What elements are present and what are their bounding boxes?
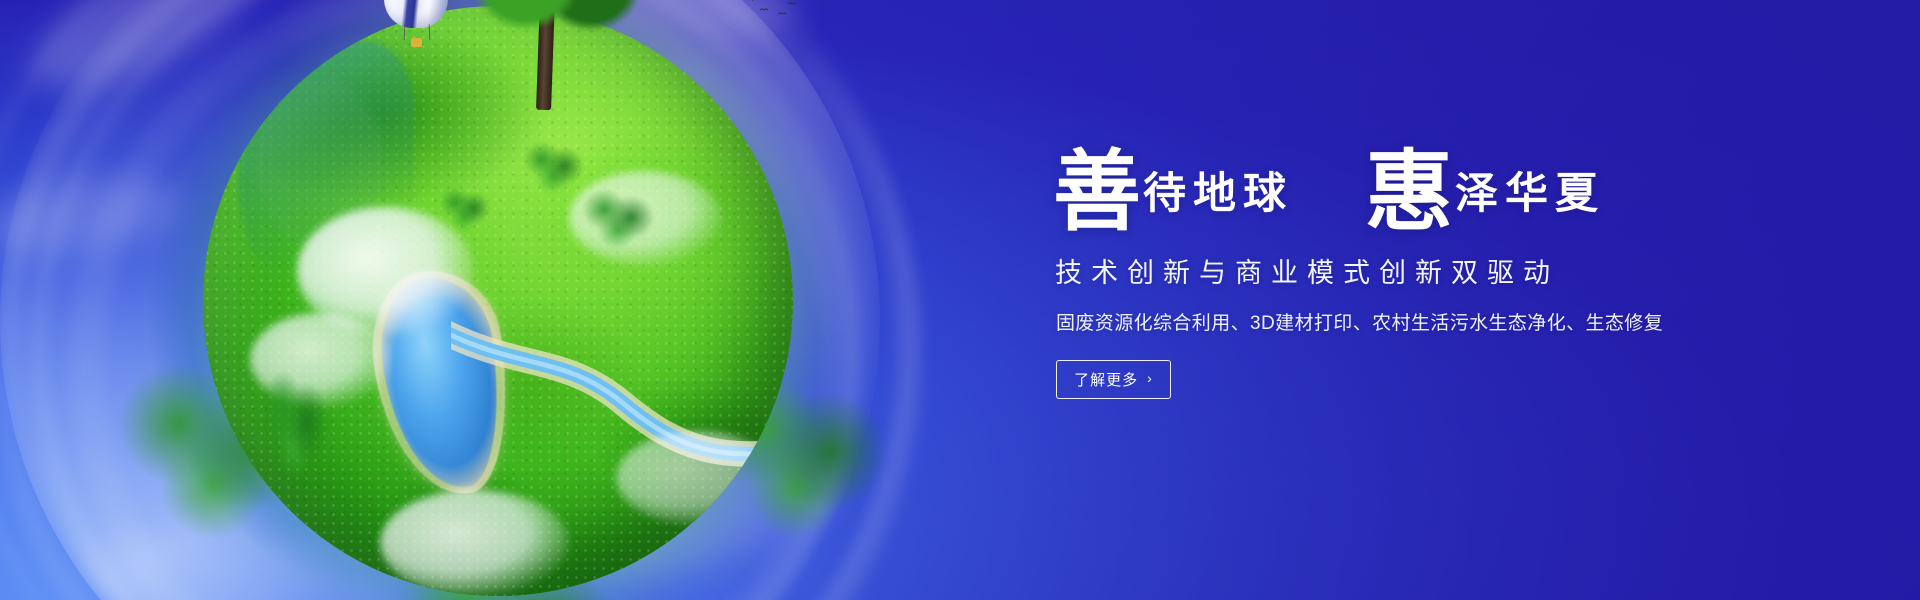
headline-phrase-one: 善 待地球 (1053, 148, 1291, 229)
bush-icon (522, 136, 588, 194)
bird-flock-icon (734, 0, 874, 22)
cloud-on-globe (616, 431, 781, 525)
headline-lead-char-one: 善 (1053, 154, 1141, 235)
headline: 善 待地球 惠 泽华夏 (1053, 148, 1753, 229)
chevron-right-icon: › (1147, 371, 1153, 385)
headline-lead-char-two: 惠 (1365, 154, 1453, 235)
banner-text-block: 善 待地球 惠 泽华夏 技术创新与商业模式创新双驱动 固废资源化综合利用、3D建… (1053, 148, 1753, 399)
headline-rest-one: 待地球 (1143, 173, 1293, 216)
green-planet-artwork (148, 0, 848, 600)
tree-canopy (426, 0, 676, 45)
learn-more-label: 了解更多 (1074, 369, 1138, 390)
headline-phrase-two: 惠 泽华夏 (1365, 148, 1603, 229)
bush-icon (439, 183, 493, 231)
banner-description: 固废资源化综合利用、3D建材打印、农村生活污水生态净化、生态修复 (1056, 308, 1753, 335)
bush-icon (262, 360, 332, 480)
cloud-on-globe (380, 490, 569, 596)
large-tree-icon (426, 0, 676, 120)
learn-more-button[interactable]: 了解更多 › (1056, 360, 1171, 399)
bush-icon (581, 183, 659, 249)
banner-subtitle: 技术创新与商业模式创新双驱动 (1055, 251, 1753, 290)
balloon-basket (411, 38, 422, 47)
hero-banner: 善 待地球 惠 泽华夏 技术创新与商业模式创新双驱动 固废资源化综合利用、3D建… (0, 0, 1920, 600)
headline-rest-two: 泽华夏 (1455, 173, 1605, 216)
hot-air-balloon-icon (384, 0, 448, 50)
